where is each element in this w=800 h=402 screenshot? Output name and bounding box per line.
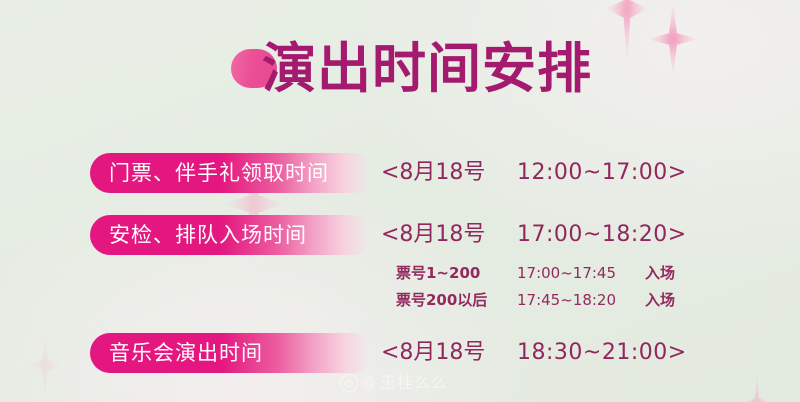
schedule-row-label: 安检、排队入场时间 bbox=[109, 215, 307, 255]
schedule-row: 音乐会演出时间 <8月18号 18:30~21:00> bbox=[0, 333, 800, 373]
schedule-row: 门票、伴手礼领取时间 <8月18号 12:00~17:00> bbox=[0, 153, 800, 193]
subrow-ticket-range: 票号1~200 bbox=[396, 261, 480, 285]
schedule-row-pill: 门票、伴手礼领取时间 bbox=[90, 153, 373, 193]
schedule-subrow: 票号1~200 17:00~17:45 入场 bbox=[0, 261, 800, 285]
schedule-row-time: 18:30~21:00> bbox=[517, 333, 687, 373]
subrow-time: 17:00~17:45 bbox=[517, 261, 616, 285]
subrow-time: 17:45~18:20 bbox=[517, 288, 616, 312]
subrow-ticket-range: 票号200以后 bbox=[396, 288, 487, 312]
at-icon: @ bbox=[362, 375, 376, 391]
schedule-row-time: 12:00~17:00> bbox=[517, 153, 687, 193]
watermark: @ 玉桂么么 bbox=[340, 371, 448, 395]
schedule-row-label: 门票、伴手礼领取时间 bbox=[109, 153, 329, 193]
subrow-note: 入场 bbox=[645, 288, 675, 312]
schedule-row-time: 17:00~18:20> bbox=[517, 215, 687, 255]
schedule-row-label: 音乐会演出时间 bbox=[109, 333, 263, 373]
watermark-username: 玉桂么么 bbox=[380, 373, 448, 393]
poster-canvas: 演出时间安排 门票、伴手礼领取时间 <8月18号 12:00~17:00> 安检… bbox=[0, 0, 800, 402]
subrow-note: 入场 bbox=[645, 261, 675, 285]
weibo-icon bbox=[340, 374, 358, 392]
schedule-row: 安检、排队入场时间 <8月18号 17:00~18:20> bbox=[0, 215, 800, 255]
schedule-row-date: <8月18号 bbox=[381, 333, 485, 373]
schedule-row-pill: 音乐会演出时间 bbox=[90, 333, 373, 373]
schedule-row-date: <8月18号 bbox=[381, 215, 485, 255]
schedule-row-pill: 安检、排队入场时间 bbox=[90, 215, 373, 255]
schedule-subrow: 票号200以后 17:45~18:20 入场 bbox=[0, 288, 800, 312]
schedule-row-date: <8月18号 bbox=[381, 153, 485, 193]
schedule-list: 门票、伴手礼领取时间 <8月18号 12:00~17:00> 安检、排队入场时间… bbox=[0, 0, 800, 402]
